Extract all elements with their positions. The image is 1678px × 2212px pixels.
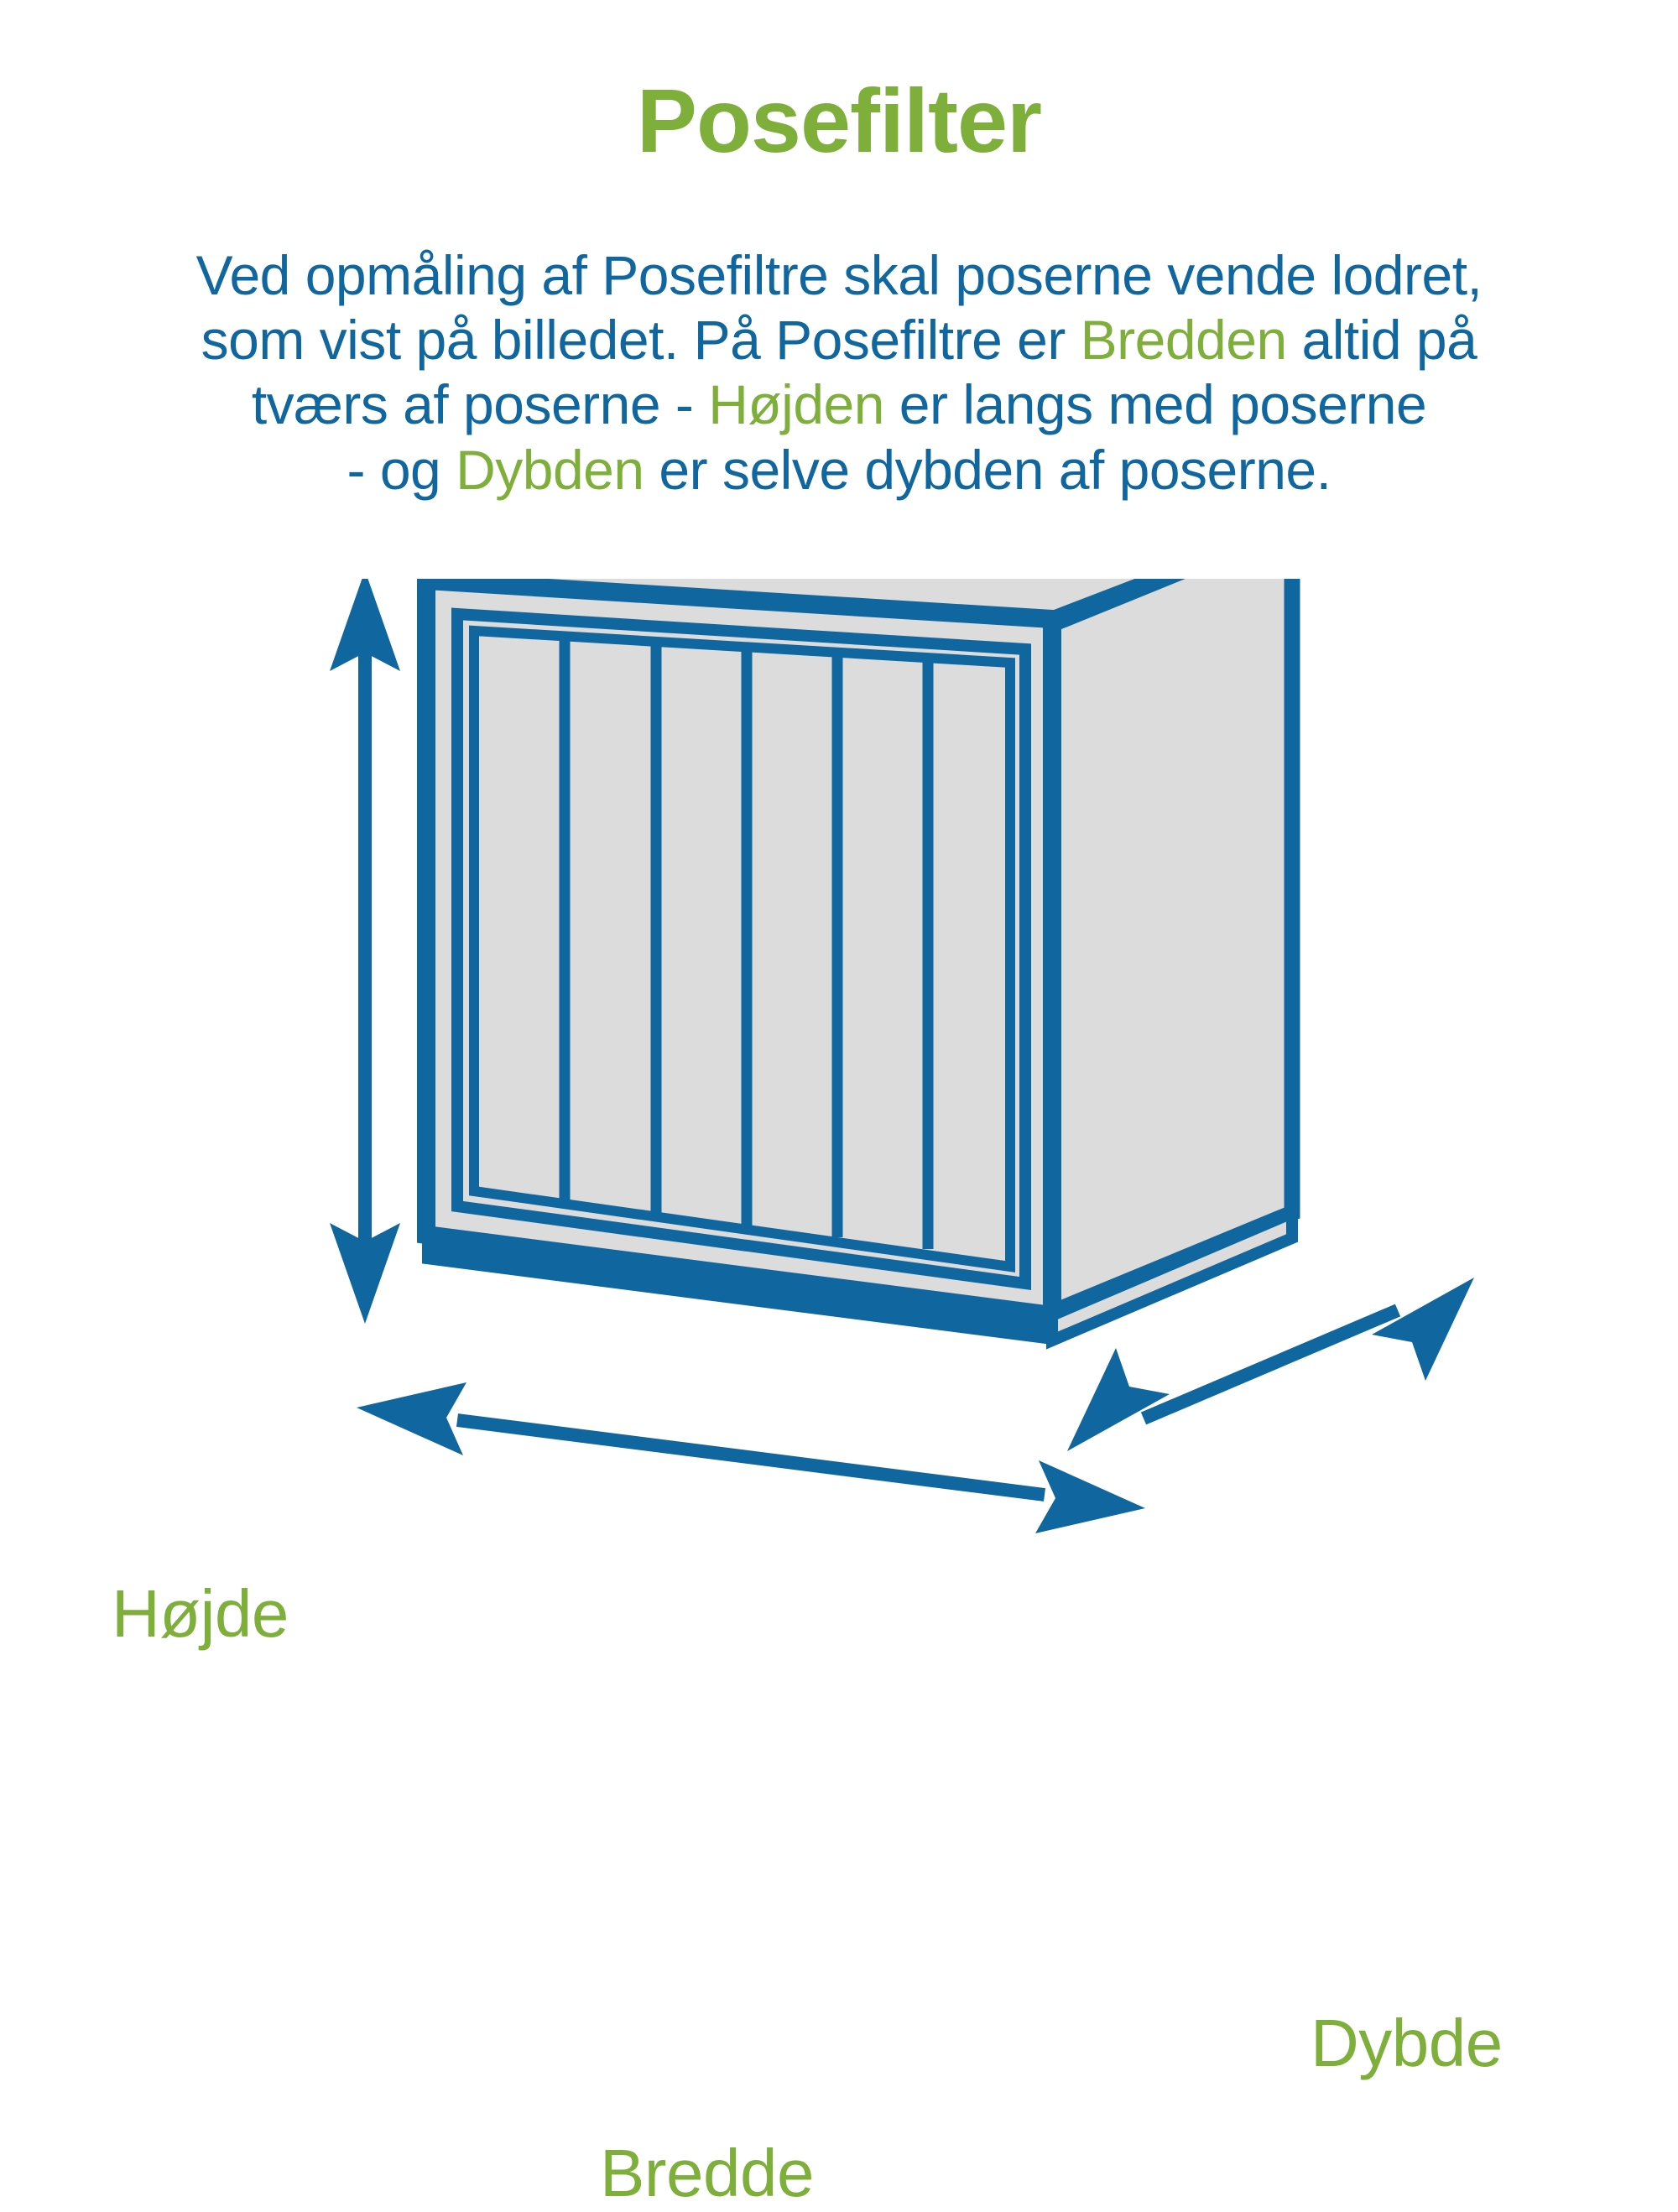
intro-line-2-text-a: som vist på billedet. På Posefiltre er (201, 309, 1081, 371)
width-arrow (357, 1382, 1145, 1533)
intro-line-4: - og Dybden er selve dybden af poserne. (67, 438, 1611, 502)
intro-highlight-hojden: Højden (708, 373, 884, 435)
depth-arrow-shaft (1144, 1310, 1398, 1418)
intro-line-4-text-b: er selve dybden af poserne. (644, 439, 1331, 501)
intro-highlight-bredden: Bredden (1081, 309, 1287, 371)
intro-line-3: tværs af poserne - Højden er langs med p… (67, 372, 1611, 437)
width-arrow-head-right (1035, 1460, 1145, 1533)
intro-line-3-text-b: er langs med poserne (884, 373, 1426, 435)
filter-diagram: Højde Bredde Dybde (0, 579, 1678, 1678)
filter-side-panel (1045, 579, 1292, 1315)
filter-diagram-svg (0, 579, 1678, 1678)
intro-paragraph: Ved opmåling af Posefiltre skal poserne … (67, 243, 1611, 502)
dimension-label-depth: Dybde (1311, 2005, 1503, 2082)
intro-line-4-text-a: - og (347, 439, 456, 501)
dimension-label-width: Bredde (600, 2135, 814, 2212)
page-title: Posefilter (0, 72, 1678, 170)
intro-highlight-dybden: Dybden (456, 439, 644, 501)
intro-line-2-text-b: altid på (1287, 309, 1477, 371)
dimension-label-height: Højde (112, 1575, 289, 1652)
poster-root: Posefilter Ved opmåling af Posefiltre sk… (0, 0, 1678, 1678)
depth-arrow-head-lowerleft (1067, 1348, 1170, 1451)
intro-line-2: som vist på billedet. På Posefiltre er B… (67, 308, 1611, 372)
width-arrow-shaft (457, 1420, 1045, 1495)
height-arrow (330, 579, 400, 1324)
depth-arrow-head-upperright (1372, 1278, 1474, 1381)
width-arrow-head-left (357, 1382, 466, 1455)
intro-line-1-text: Ved opmåling af Posefiltre skal poserne … (196, 244, 1483, 306)
intro-line-3-text-a: tværs af poserne - (252, 373, 708, 435)
intro-line-1: Ved opmåling af Posefiltre skal poserne … (67, 243, 1611, 308)
